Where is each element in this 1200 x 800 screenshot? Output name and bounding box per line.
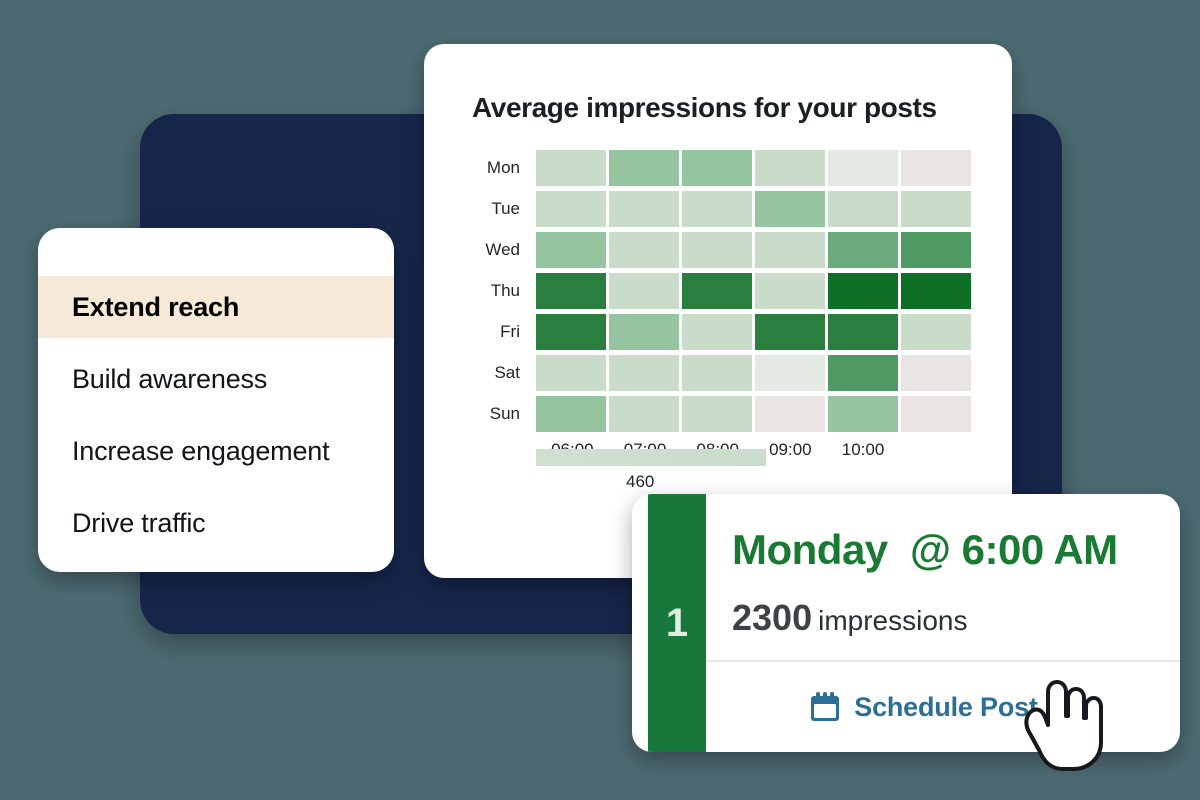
heatmap-cell[interactable] bbox=[828, 273, 898, 309]
rank-strip: 1 bbox=[648, 494, 706, 752]
goal-item-build-awareness[interactable]: Build awareness bbox=[38, 348, 394, 410]
heatmap-cell[interactable] bbox=[755, 355, 825, 391]
heatmap-cell[interactable] bbox=[609, 355, 679, 391]
goal-item-label: Increase engagement bbox=[72, 436, 329, 467]
goals-card: Extend reach Build awareness Increase en… bbox=[38, 228, 394, 572]
heatmap-rows: MonTueWedThuFriSatSun bbox=[472, 147, 972, 434]
legend-gradient-bar bbox=[536, 449, 766, 466]
heatmap-row-cells bbox=[536, 314, 971, 350]
heatmap-cell[interactable] bbox=[536, 273, 606, 309]
heatmap-cell[interactable] bbox=[828, 191, 898, 227]
popup-time: 6:00 AM bbox=[962, 526, 1118, 573]
heatmap-row: Tue bbox=[472, 188, 972, 229]
heatmap-legend: 460 bbox=[536, 449, 766, 492]
heatmap-cell[interactable] bbox=[682, 273, 752, 309]
heatmap-cell[interactable] bbox=[901, 232, 971, 268]
heatmap-cell[interactable] bbox=[536, 355, 606, 391]
heatmap-cell[interactable] bbox=[609, 191, 679, 227]
heatmap-day-label: Wed bbox=[472, 240, 536, 260]
heatmap-cell[interactable] bbox=[901, 396, 971, 432]
heatmap-cell[interactable] bbox=[609, 396, 679, 432]
heatmap-cell[interactable] bbox=[901, 273, 971, 309]
heatmap-cell[interactable] bbox=[536, 396, 606, 432]
heatmap-day-label: Tue bbox=[472, 199, 536, 219]
heatmap-day-label: Sun bbox=[472, 404, 536, 424]
heatmap-row-cells bbox=[536, 396, 971, 432]
legend-min-label: 460 bbox=[626, 472, 766, 492]
heatmap-cell[interactable] bbox=[682, 191, 752, 227]
heatmap-day-label: Thu bbox=[472, 281, 536, 301]
rank-number: 1 bbox=[666, 601, 688, 646]
best-time-popup-card: 1 Monday @ 6:00 AM 2300impressions Sched… bbox=[632, 494, 1180, 752]
heatmap-cell[interactable] bbox=[828, 314, 898, 350]
heatmap-x-tick: 10:00 bbox=[827, 440, 900, 460]
heatmap-row: Sun bbox=[472, 393, 972, 434]
heatmap-cell[interactable] bbox=[828, 355, 898, 391]
heatmap-cell[interactable] bbox=[536, 232, 606, 268]
heatmap-cell[interactable] bbox=[755, 150, 825, 186]
popup-metric: 2300impressions bbox=[732, 597, 967, 639]
schedule-post-button[interactable]: Schedule Post bbox=[706, 662, 1180, 752]
heatmap-row: Wed bbox=[472, 229, 972, 270]
heatmap-cell[interactable] bbox=[609, 150, 679, 186]
impressions-unit: impressions bbox=[818, 605, 967, 636]
heatmap-row: Sat bbox=[472, 352, 972, 393]
heatmap-cell[interactable] bbox=[682, 314, 752, 350]
chart-title-part-1: Average bbox=[472, 92, 586, 123]
heatmap-row-cells bbox=[536, 191, 971, 227]
chart-title-part-3: for your posts bbox=[747, 92, 937, 123]
heatmap-row-cells bbox=[536, 232, 971, 268]
heatmap-cell[interactable] bbox=[828, 232, 898, 268]
heatmap-cell[interactable] bbox=[901, 314, 971, 350]
heatmap-cell[interactable] bbox=[609, 314, 679, 350]
heatmap-cell[interactable] bbox=[755, 232, 825, 268]
schedule-post-label: Schedule Post bbox=[854, 692, 1037, 723]
heatmap-cell[interactable] bbox=[828, 150, 898, 186]
heatmap-cell[interactable] bbox=[682, 232, 752, 268]
heatmap-cell[interactable] bbox=[536, 314, 606, 350]
heatmap-cell[interactable] bbox=[682, 355, 752, 391]
heatmap-cell[interactable] bbox=[682, 396, 752, 432]
goal-item-label: Drive traffic bbox=[72, 508, 205, 539]
heatmap-row: Thu bbox=[472, 270, 972, 311]
heatmap-cell[interactable] bbox=[755, 396, 825, 432]
heatmap-cell[interactable] bbox=[755, 191, 825, 227]
heatmap-row: Mon bbox=[472, 147, 972, 188]
popup-day: Monday bbox=[732, 526, 888, 573]
heatmap-cell[interactable] bbox=[609, 232, 679, 268]
heatmap-cell[interactable] bbox=[901, 355, 971, 391]
heatmap-cell[interactable] bbox=[755, 273, 825, 309]
heatmap-x-tick bbox=[899, 440, 972, 460]
goal-item-increase-engagement[interactable]: Increase engagement bbox=[38, 420, 394, 482]
popup-headline: Monday @ 6:00 AM bbox=[732, 526, 1118, 574]
heatmap-cell[interactable] bbox=[901, 150, 971, 186]
chart-title-part-2: impressions bbox=[586, 92, 747, 123]
popup-body: Monday @ 6:00 AM 2300impressions Schedul… bbox=[706, 494, 1180, 752]
popup-at-symbol: @ bbox=[910, 526, 950, 573]
heatmap-cell[interactable] bbox=[536, 150, 606, 186]
heatmap-cell[interactable] bbox=[828, 396, 898, 432]
heatmap-row: Fri bbox=[472, 311, 972, 352]
heatmap-cell[interactable] bbox=[755, 314, 825, 350]
heatmap-cell[interactable] bbox=[609, 273, 679, 309]
chart-title: Average impressions for your posts bbox=[472, 92, 937, 124]
heatmap-row-cells bbox=[536, 273, 971, 309]
goal-item-drive-traffic[interactable]: Drive traffic bbox=[38, 492, 394, 554]
heatmap-cell[interactable] bbox=[682, 150, 752, 186]
heatmap-day-label: Mon bbox=[472, 158, 536, 178]
goal-item-extend-reach[interactable]: Extend reach bbox=[38, 276, 394, 338]
heatmap-row-cells bbox=[536, 150, 971, 186]
heatmap-cell[interactable] bbox=[536, 191, 606, 227]
goal-item-label: Build awareness bbox=[72, 364, 267, 395]
impressions-value: 2300 bbox=[732, 597, 812, 638]
impressions-heatmap: MonTueWedThuFriSatSun 06:0007:0008:0009:… bbox=[472, 147, 972, 460]
heatmap-day-label: Fri bbox=[472, 322, 536, 342]
heatmap-row-cells bbox=[536, 355, 971, 391]
heatmap-day-label: Sat bbox=[472, 363, 536, 383]
calendar-icon bbox=[808, 690, 842, 724]
goals-list: Extend reach Build awareness Increase en… bbox=[38, 228, 394, 554]
goal-item-label: Extend reach bbox=[72, 292, 239, 323]
heatmap-cell[interactable] bbox=[901, 191, 971, 227]
